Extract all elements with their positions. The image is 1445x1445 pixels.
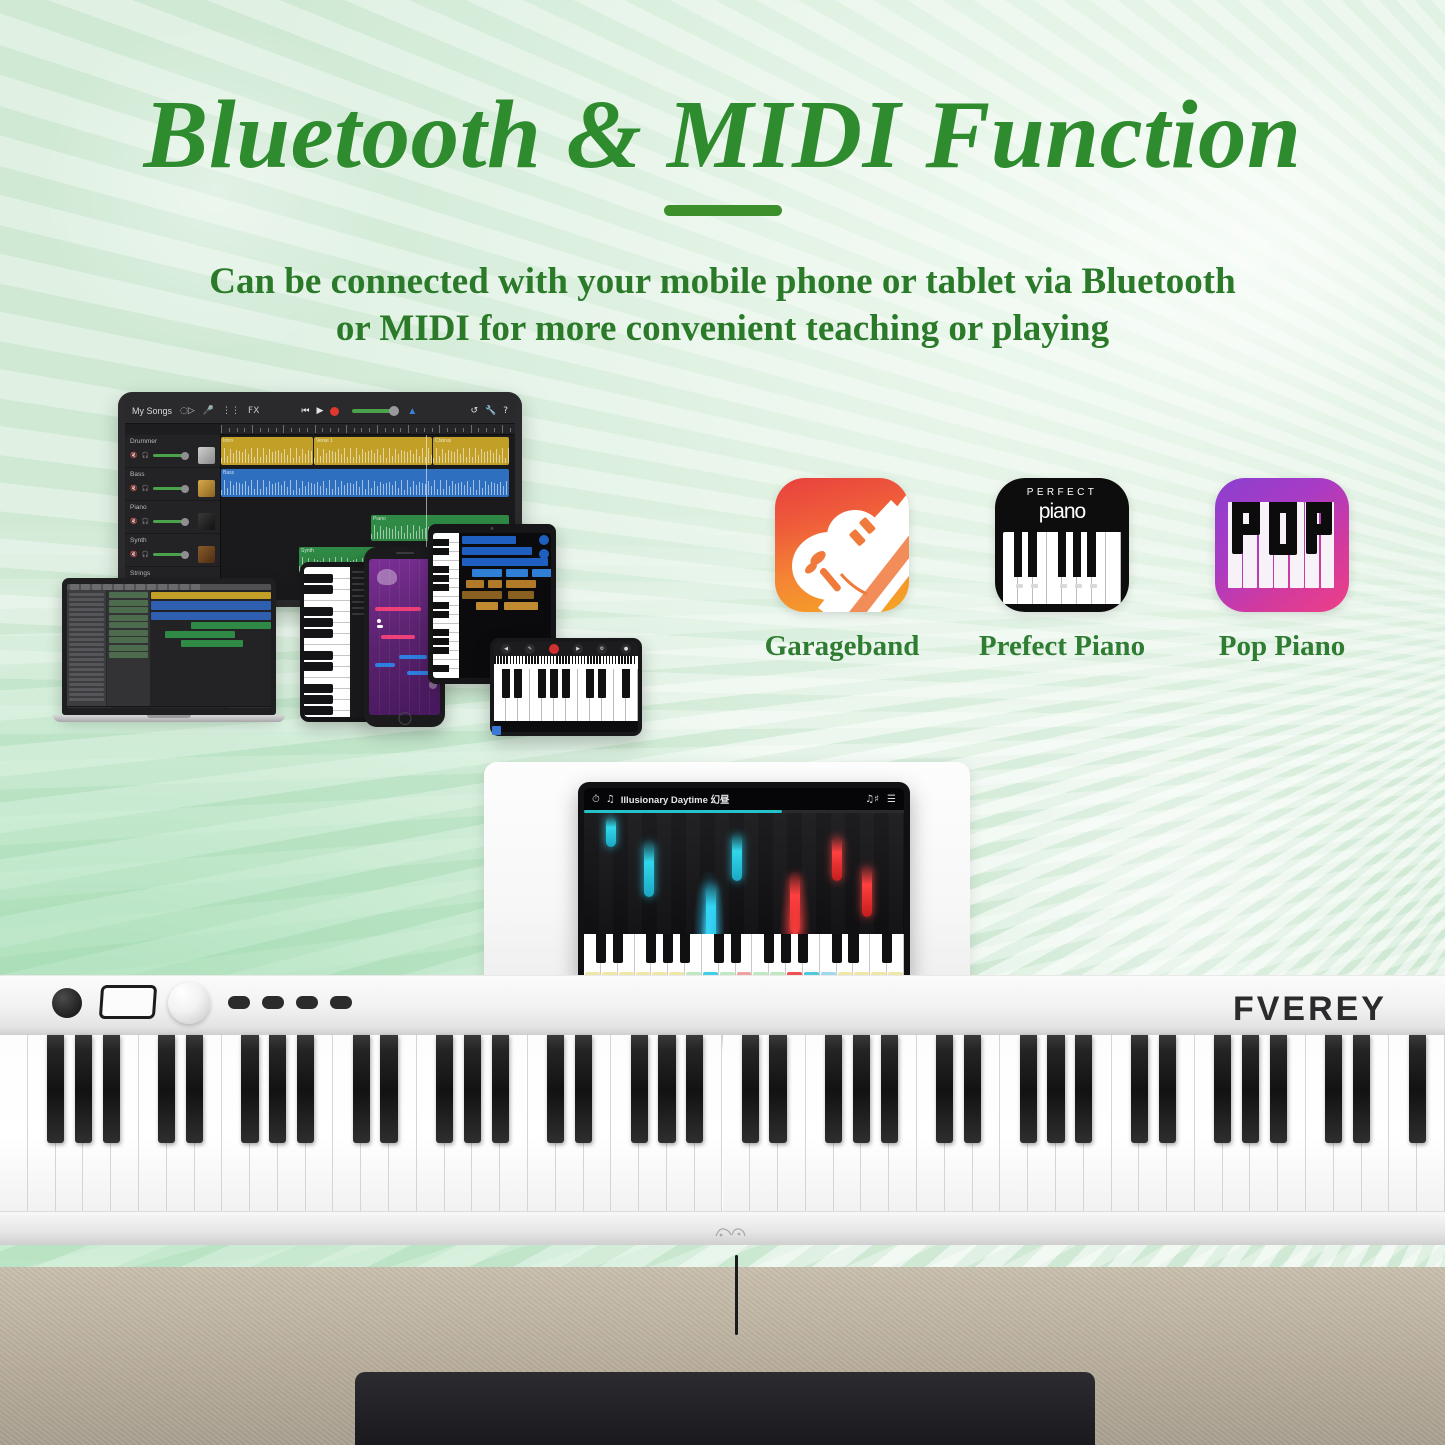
- ruler-tick: [455, 428, 456, 432]
- arrange-region[interactable]: [191, 622, 271, 629]
- black-key[interactable]: [714, 934, 724, 963]
- my-songs-button[interactable]: My Songs: [132, 406, 172, 416]
- metronome-icon[interactable]: ▲: [407, 406, 417, 417]
- mini-key: [559, 656, 561, 664]
- waveform-bar: [386, 458, 387, 463]
- guitar-icon: [775, 478, 909, 612]
- waveform-bar: [467, 481, 468, 495]
- loops-icon[interactable]: ◌▷: [180, 406, 195, 416]
- page-title: Bluetooth & MIDI Function: [0, 84, 1445, 186]
- black-key[interactable]: [562, 669, 569, 698]
- garageband-app-icon[interactable]: [775, 478, 909, 612]
- black-key[interactable]: [547, 1035, 564, 1143]
- ruler-tick: [307, 428, 308, 432]
- black-key[interactable]: [436, 1035, 453, 1143]
- compatible-apps-row: Garageband PERFECT piano Prefect Piano P…: [752, 478, 1372, 663]
- rewind-icon[interactable]: ⏮: [301, 406, 309, 416]
- waveform-bar: [257, 448, 258, 463]
- instrument-thumbnail: [198, 480, 215, 497]
- ruler-tick: [283, 425, 284, 433]
- waveform-bar: [401, 450, 402, 463]
- track-header[interactable]: Bass🔇🎧: [125, 468, 220, 501]
- midi-row[interactable]: [462, 547, 548, 555]
- key-divider: [304, 677, 350, 678]
- black-key[interactable]: [304, 651, 333, 660]
- black-key[interactable]: [433, 566, 449, 573]
- midi-clip[interactable]: [506, 580, 536, 588]
- vertical-piano-keys[interactable]: [304, 567, 350, 717]
- midi-clip[interactable]: [508, 591, 534, 599]
- black-key[interactable]: [658, 1035, 675, 1143]
- black-key[interactable]: [433, 602, 449, 609]
- waveform-bar: [395, 481, 396, 495]
- key-label-row: [494, 721, 638, 732]
- waveform-bar: [506, 481, 507, 496]
- waveform-bar: [494, 483, 495, 495]
- app-pop-piano[interactable]: Pop Piano: [1192, 478, 1372, 663]
- mute-icon[interactable]: 🔇: [130, 485, 137, 492]
- waveform-bar: [389, 528, 390, 539]
- key-divider: [433, 560, 459, 561]
- black-key[interactable]: [269, 1035, 286, 1143]
- black-key[interactable]: [646, 934, 656, 963]
- track-header[interactable]: Drummer🔇🎧: [125, 435, 220, 468]
- black-key[interactable]: [798, 934, 808, 963]
- timeline-ruler[interactable]: [221, 424, 515, 435]
- waveform-bar: [455, 484, 456, 495]
- record-button[interactable]: [549, 644, 559, 654]
- audio-region[interactable]: Intro: [221, 437, 313, 465]
- pop-piano-app-icon[interactable]: [1215, 478, 1349, 612]
- black-key[interactable]: [103, 1035, 120, 1143]
- waveform-bar: [362, 480, 363, 495]
- ruler-tick: [268, 428, 269, 432]
- mini-key: [581, 656, 583, 664]
- menu-icon[interactable]: ☰: [887, 794, 896, 805]
- master-volume-slider[interactable]: [352, 409, 394, 413]
- arrange-region[interactable]: [151, 592, 271, 599]
- black-key[interactable]: [964, 1035, 981, 1143]
- waveform-bar: [475, 448, 476, 463]
- mini-key: [618, 656, 620, 664]
- function-button-2[interactable]: [262, 996, 284, 1009]
- mute-icon[interactable]: 🔇: [130, 452, 137, 459]
- play-icon[interactable]: ▶: [573, 644, 583, 654]
- waveform-bar: [365, 452, 366, 463]
- instrument-icon[interactable]: ♫♯: [865, 794, 879, 805]
- arrange-region[interactable]: [151, 601, 271, 610]
- black-key[interactable]: [297, 1035, 314, 1143]
- waveform-bar: [487, 451, 488, 463]
- ruler-tick: [361, 428, 362, 432]
- black-key[interactable]: [304, 574, 333, 583]
- midi-row[interactable]: [462, 558, 548, 566]
- waveform-bar: [299, 488, 300, 495]
- black-key[interactable]: [304, 684, 333, 693]
- black-key[interactable]: [433, 647, 449, 654]
- waveform-bar: [446, 480, 447, 495]
- waveform-bar: [380, 526, 381, 539]
- black-key[interactable]: [1270, 1035, 1287, 1143]
- black-key[interactable]: [433, 548, 449, 555]
- lcd-display: [99, 985, 157, 1019]
- waveform-bar: [413, 481, 414, 495]
- ruler-tick: [432, 428, 433, 432]
- waveform-bar: [497, 484, 498, 495]
- black-key[interactable]: [769, 1035, 786, 1143]
- back-icon[interactable]: ◀: [501, 644, 511, 654]
- waveform-bar: [254, 457, 255, 463]
- midi-clip[interactable]: [462, 558, 548, 566]
- mini-key: [553, 656, 555, 664]
- waveform-bar: [508, 448, 509, 463]
- waveform-bar: [266, 487, 267, 495]
- midi-clip[interactable]: [506, 569, 528, 577]
- waveform-bar: [302, 481, 303, 495]
- waveform-bar: [314, 458, 315, 463]
- black-key[interactable]: [464, 1035, 481, 1143]
- help-icon[interactable]: ?: [503, 406, 508, 416]
- black-key[interactable]: [1075, 1035, 1092, 1143]
- black-key[interactable]: [433, 629, 449, 636]
- midi-row[interactable]: [462, 591, 548, 599]
- track-volume-slider[interactable]: [153, 553, 185, 556]
- black-key[interactable]: [502, 669, 509, 698]
- falling-note: [407, 671, 429, 675]
- black-key[interactable]: [304, 706, 333, 715]
- waveform-bar: [457, 449, 458, 463]
- midi-clip[interactable]: [488, 580, 502, 588]
- midi-clip[interactable]: [462, 591, 502, 599]
- ruler-tick: [237, 428, 238, 432]
- function-button-1[interactable]: [228, 996, 250, 1009]
- landscape-piano-tablet: ◀ ✎ ▶ ⚙ ●: [490, 638, 642, 736]
- app-perfect-piano[interactable]: PERFECT piano Prefect Piano: [972, 478, 1152, 663]
- black-key: [1028, 532, 1036, 577]
- edit-icon[interactable]: ✎: [525, 644, 535, 654]
- timer-icon[interactable]: ⏱: [592, 794, 600, 805]
- camera-icon: [491, 527, 494, 530]
- phone-speaker: [396, 552, 414, 554]
- ruler-tick: [463, 428, 464, 432]
- note-column: [657, 813, 672, 934]
- midi-clip[interactable]: [532, 569, 551, 577]
- track-header[interactable]: Piano🔇🎧: [125, 501, 220, 534]
- arrange-region[interactable]: [165, 631, 235, 638]
- stand-tablet-screen: ⏱ ♫ Illusionary Daytime 幻昼 ♫♯ ☰: [584, 788, 904, 984]
- black-key[interactable]: [433, 584, 449, 591]
- key-label-active: [494, 726, 501, 732]
- track-name: Drummer: [130, 438, 215, 445]
- black-key[interactable]: [680, 934, 690, 963]
- midi-row[interactable]: [462, 580, 548, 588]
- waveform-bar: [383, 448, 384, 463]
- black-key[interactable]: [663, 934, 673, 963]
- waveform-bar: [479, 480, 480, 495]
- mixer-icon[interactable]: ⋮⋮: [222, 406, 240, 416]
- ruler-tick: [385, 428, 386, 432]
- black-key[interactable]: [304, 585, 333, 594]
- headphone-icon[interactable]: 🎧: [141, 452, 148, 459]
- ruler-tick: [416, 428, 417, 432]
- app-label-perfect-piano: Prefect Piano: [972, 630, 1152, 663]
- waveform-bar: [293, 490, 294, 495]
- track-volume-slider[interactable]: [153, 520, 185, 523]
- mini-key: [627, 656, 629, 664]
- waveform-bar: [236, 482, 237, 495]
- settings-icon[interactable]: ⚙: [597, 644, 607, 654]
- headphone-icon[interactable]: 🎧: [141, 551, 148, 558]
- poster-canvas: Bluetooth & MIDI Function Can be connect…: [0, 0, 1445, 1445]
- audio-region[interactable]: Verse 1: [314, 437, 432, 465]
- waveform-bar: [278, 450, 279, 463]
- perfect-piano-app-icon[interactable]: PERFECT piano: [995, 478, 1129, 612]
- waveform-bar: [239, 451, 240, 463]
- black-key[interactable]: [304, 607, 333, 616]
- waveform-bar: [350, 483, 351, 495]
- midi-clip[interactable]: [504, 602, 538, 610]
- waveform-bar: [254, 489, 255, 495]
- waveform-bar: [290, 448, 291, 463]
- black-key[interactable]: [936, 1035, 953, 1143]
- microphone-icon[interactable]: 🎤: [203, 406, 214, 416]
- black-key[interactable]: [781, 934, 791, 963]
- black-key[interactable]: [433, 611, 449, 618]
- waveform-bar: [329, 480, 330, 495]
- black-key[interactable]: [825, 1035, 842, 1143]
- black-key[interactable]: [613, 934, 623, 963]
- track-volume-slider[interactable]: [153, 454, 185, 457]
- black-key[interactable]: [764, 934, 774, 963]
- mute-icon[interactable]: 🔇: [130, 518, 137, 525]
- black-key[interactable]: [380, 1035, 397, 1143]
- mini-key: [587, 656, 589, 664]
- audio-region[interactable]: Bass: [221, 469, 509, 497]
- app-garageband[interactable]: Garageband: [752, 478, 932, 663]
- headphone-icon[interactable]: 🎧: [141, 518, 148, 525]
- fx-button[interactable]: FX: [248, 406, 259, 416]
- waveform-bar: [347, 483, 348, 495]
- black-key[interactable]: [622, 669, 629, 698]
- black-key[interactable]: [75, 1035, 92, 1143]
- black-key[interactable]: [631, 1035, 648, 1143]
- ruler-tick: [494, 428, 495, 432]
- power-button[interactable]: [52, 988, 82, 1018]
- waveform-bar: [445, 453, 446, 463]
- midi-clip[interactable]: [462, 536, 516, 544]
- waveform-bar: [380, 455, 381, 463]
- waveform-bar: [236, 450, 237, 463]
- waveform-bar: [371, 534, 372, 539]
- waveform-bar: [326, 453, 327, 463]
- pop-letter-segment: [1269, 544, 1297, 555]
- midi-clip[interactable]: [476, 602, 498, 610]
- black-key[interactable]: [538, 669, 545, 698]
- black-key[interactable]: [1214, 1035, 1231, 1143]
- more-icon[interactable]: ●: [621, 644, 631, 654]
- black-key[interactable]: [853, 1035, 870, 1143]
- region-label: Verse 1: [314, 437, 432, 445]
- waveform-bar: [371, 450, 372, 463]
- waveform-bar: [353, 457, 354, 463]
- falling-note: [381, 635, 415, 639]
- waveform-bar: [422, 529, 423, 539]
- mute-icon[interactable]: 🔇: [130, 551, 137, 558]
- black-key[interactable]: [1242, 1035, 1259, 1143]
- black-key[interactable]: [1020, 1035, 1037, 1143]
- waveform-bar: [281, 453, 282, 463]
- midi-clip[interactable]: [462, 547, 532, 555]
- black-key[interactable]: [304, 618, 333, 627]
- waveform-bar: [224, 480, 225, 495]
- waveform-bar: [341, 481, 342, 495]
- black-key[interactable]: [848, 934, 858, 963]
- black-key[interactable]: [1159, 1035, 1176, 1143]
- black-key[interactable]: [742, 1035, 759, 1143]
- waveform-bar: [311, 483, 312, 495]
- midi-keyboard-strip[interactable]: [433, 533, 459, 678]
- waveform-bar: [383, 530, 384, 539]
- black-key[interactable]: [186, 1035, 203, 1143]
- black-key[interactable]: [433, 575, 449, 582]
- waveform-bar: [407, 480, 408, 495]
- waveform-bar: [419, 482, 420, 495]
- waveform-bar: [469, 448, 470, 463]
- waveform-bar: [230, 449, 231, 463]
- black-key[interactable]: [1047, 1035, 1064, 1143]
- black-key[interactable]: [596, 934, 606, 963]
- waveform-bar: [451, 451, 452, 463]
- key-marking: [1016, 584, 1023, 588]
- drummer-kit-view: [227, 707, 271, 708]
- falling-note: [399, 655, 427, 659]
- mini-key: [612, 656, 614, 664]
- black-key[interactable]: [575, 1035, 592, 1143]
- track-header[interactable]: Synth🔇🎧: [125, 534, 220, 567]
- waveform-bar: [284, 481, 285, 495]
- ruler-tick: [221, 425, 222, 433]
- key-marking: [1075, 584, 1082, 588]
- mini-key: [593, 656, 595, 664]
- black-key[interactable]: [304, 629, 333, 638]
- waveform-bar: [401, 526, 402, 540]
- waveform-bar: [404, 451, 405, 463]
- waveform-bar: [290, 480, 291, 495]
- black-key[interactable]: [47, 1035, 64, 1143]
- headphone-icon[interactable]: 🎧: [141, 485, 148, 492]
- waveform-bar: [458, 483, 459, 495]
- track-volume-slider[interactable]: [153, 487, 185, 490]
- wrench-icon[interactable]: 🔧: [485, 406, 496, 416]
- black-key[interactable]: [1353, 1035, 1370, 1143]
- waveform-bar: [224, 448, 225, 463]
- home-button[interactable]: [398, 712, 411, 725]
- black-key[interactable]: [433, 539, 449, 546]
- black-key[interactable]: [731, 934, 741, 963]
- piano-keys[interactable]: [494, 669, 638, 721]
- function-button-4[interactable]: [330, 996, 352, 1009]
- black-key[interactable]: [514, 669, 521, 698]
- key-divider: [304, 644, 350, 645]
- macbook-lid: [62, 578, 276, 715]
- audio-region[interactable]: Chorus: [433, 437, 509, 465]
- black-key[interactable]: [550, 669, 557, 698]
- note-lane: [419, 559, 420, 715]
- instrument-thumbnail: [198, 447, 215, 464]
- mini-key: [522, 656, 524, 664]
- midi-clip[interactable]: [466, 580, 484, 588]
- pop-letter-segment: [1232, 524, 1260, 535]
- black-key[interactable]: [686, 1035, 703, 1143]
- ruler-tick: [338, 428, 339, 432]
- waveform-bar: [230, 481, 231, 495]
- black-key[interactable]: [1131, 1035, 1148, 1143]
- falling-note: [832, 837, 842, 881]
- arrange-region[interactable]: [151, 612, 271, 620]
- black-key: [1087, 532, 1095, 577]
- waveform-bar: [302, 449, 303, 463]
- mini-key: [603, 656, 605, 664]
- note-icon[interactable]: ♫: [606, 794, 615, 805]
- black-key[interactable]: [1409, 1035, 1426, 1143]
- instrument-thumbnail: [198, 546, 215, 563]
- black-key[interactable]: [433, 638, 449, 645]
- volume-knob[interactable]: [168, 982, 210, 1024]
- midi-row[interactable]: [462, 569, 548, 577]
- waveform-bar: [413, 525, 414, 539]
- arrange-region[interactable]: [181, 640, 243, 647]
- black-key[interactable]: [881, 1035, 898, 1143]
- mini-keyboard-overview[interactable]: [494, 656, 638, 669]
- midi-row[interactable]: [462, 536, 548, 544]
- waveform-bar: [442, 449, 443, 463]
- black-key[interactable]: [241, 1035, 258, 1143]
- midi-row[interactable]: [462, 602, 548, 610]
- mini-key: [599, 656, 601, 664]
- function-button-3[interactable]: [296, 996, 318, 1009]
- black-key[interactable]: [304, 695, 333, 704]
- waveform-bar: [377, 449, 378, 463]
- black-key[interactable]: [598, 669, 605, 698]
- black-key[interactable]: [1325, 1035, 1342, 1143]
- waveform-bar: [422, 483, 423, 495]
- black-key[interactable]: [832, 934, 842, 963]
- black-key[interactable]: [492, 1035, 509, 1143]
- black-key[interactable]: [433, 665, 449, 672]
- black-key[interactable]: [158, 1035, 175, 1143]
- mini-key: [510, 656, 512, 664]
- black-key[interactable]: [882, 934, 892, 963]
- black-key[interactable]: [304, 662, 333, 671]
- midi-clip[interactable]: [472, 569, 502, 577]
- play-icon[interactable]: ▶: [316, 406, 323, 416]
- waveform-bar: [248, 454, 249, 463]
- waveform-bar: [380, 482, 381, 495]
- macbook-base: [53, 715, 285, 722]
- waveform-bar: [473, 480, 474, 495]
- record-button[interactable]: [330, 407, 339, 416]
- black-key[interactable]: [586, 669, 593, 698]
- ruler-tick: [408, 425, 409, 433]
- black-key[interactable]: [353, 1035, 370, 1143]
- waveform: [433, 447, 509, 463]
- transport-controls: ⏮ ▶ ▲: [301, 406, 417, 417]
- header-right-icons: ♫♯ ☰: [865, 794, 896, 805]
- waveform-bar: [275, 451, 276, 463]
- waveform-bar: [221, 458, 222, 463]
- waveform-bar: [233, 453, 234, 463]
- loop-icon[interactable]: ↺: [470, 406, 478, 416]
